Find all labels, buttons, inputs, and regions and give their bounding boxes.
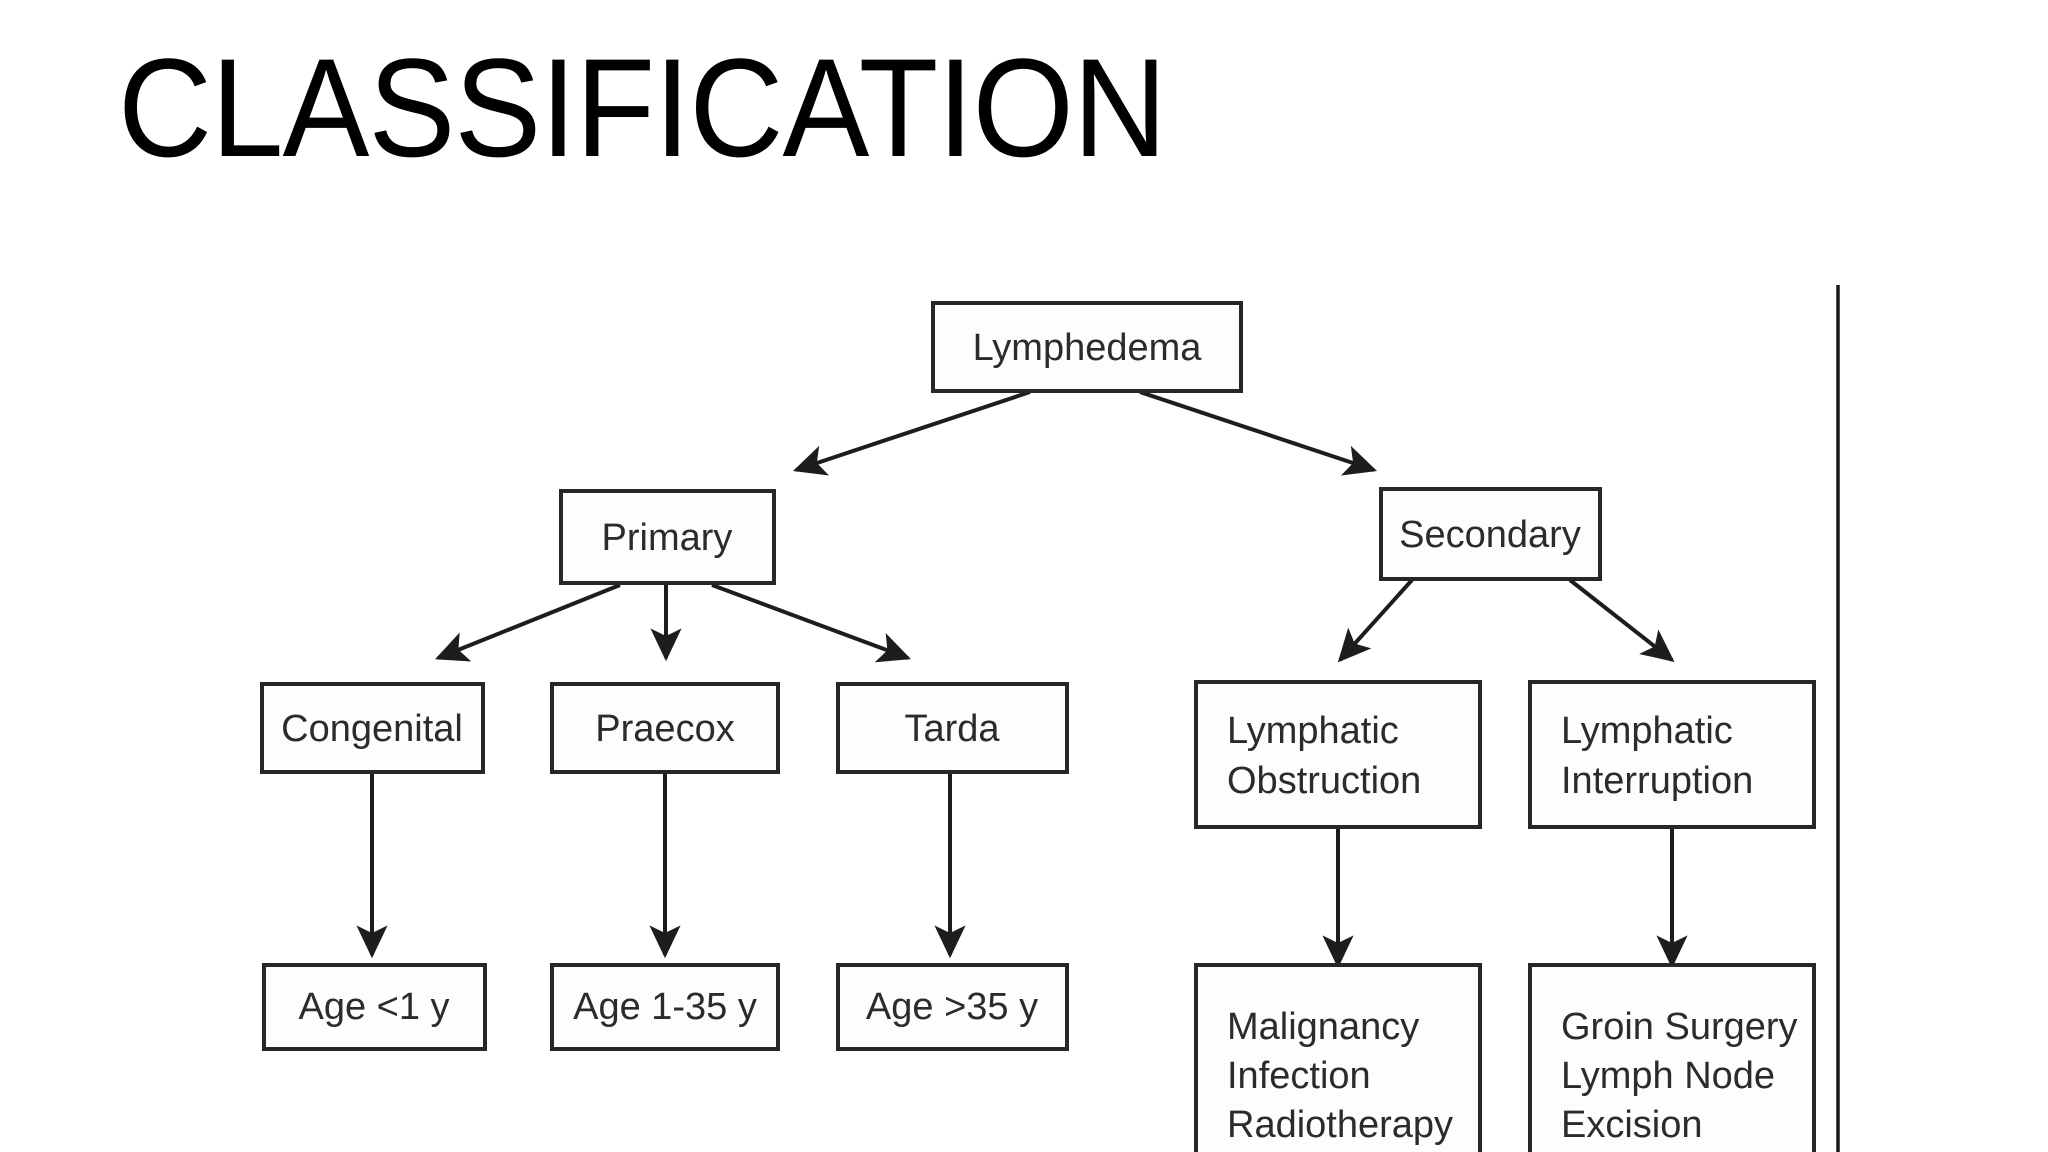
node-interruption-causes-line1: Groin Surgery — [1561, 1006, 1798, 1048]
classification-flowchart: Lymphedema Primary Secondary Congenital … — [0, 0, 2048, 1152]
node-interruption-causes-line3: Excision — [1561, 1104, 1703, 1146]
edge-primary-to-tarda — [712, 585, 908, 658]
node-lymphatic-obstruction-line2: Obstruction — [1227, 760, 1421, 802]
node-praecox: Praecox — [552, 684, 778, 772]
node-lymphatic-interruption-line2: Interruption — [1561, 760, 1753, 802]
node-primary-label: Primary — [602, 517, 733, 559]
node-age-congenital-label: Age <1 y — [298, 986, 449, 1028]
node-secondary: Secondary — [1381, 489, 1600, 579]
node-lymphatic-interruption: Lymphatic Interruption — [1530, 682, 1814, 827]
node-secondary-label: Secondary — [1399, 514, 1581, 556]
node-obstruction-causes: Malignancy Infection Radiotherapy — [1196, 965, 1480, 1152]
node-lymphatic-interruption-line1: Lymphatic — [1561, 710, 1733, 752]
node-age-tarda: Age >35 y — [838, 965, 1067, 1049]
edge-secondary-to-interruption — [1570, 580, 1672, 660]
node-age-congenital: Age <1 y — [264, 965, 485, 1049]
node-primary: Primary — [561, 491, 774, 583]
node-praecox-label: Praecox — [595, 708, 734, 750]
node-age-praecox: Age 1-35 y — [552, 965, 778, 1049]
node-interruption-causes: Groin Surgery Lymph Node Excision — [1530, 965, 1814, 1152]
node-interruption-causes-line2: Lymph Node — [1561, 1055, 1775, 1097]
node-lymphedema-label: Lymphedema — [973, 327, 1203, 369]
node-age-tarda-label: Age >35 y — [866, 986, 1038, 1028]
node-age-praecox-label: Age 1-35 y — [573, 986, 757, 1028]
node-obstruction-causes-line3: Radiotherapy — [1227, 1104, 1453, 1146]
edge-root-to-secondary — [1140, 392, 1374, 470]
node-obstruction-causes-line1: Malignancy — [1227, 1006, 1419, 1048]
node-lymphatic-obstruction-line1: Lymphatic — [1227, 710, 1399, 752]
slide-canvas: CLASSIFICATION — [0, 0, 2048, 1152]
edge-layer — [372, 392, 1672, 965]
edge-root-to-primary — [796, 392, 1030, 470]
node-lymphatic-obstruction: Lymphatic Obstruction — [1196, 682, 1480, 827]
node-congenital-label: Congenital — [281, 708, 463, 750]
node-congenital: Congenital — [262, 684, 483, 772]
node-tarda: Tarda — [838, 684, 1067, 772]
node-lymphedema: Lymphedema — [933, 303, 1241, 391]
edge-secondary-to-obstruction — [1340, 580, 1412, 660]
node-obstruction-causes-line2: Infection — [1227, 1055, 1371, 1097]
edge-primary-to-congenital — [438, 585, 620, 658]
node-tarda-label: Tarda — [904, 708, 1000, 750]
